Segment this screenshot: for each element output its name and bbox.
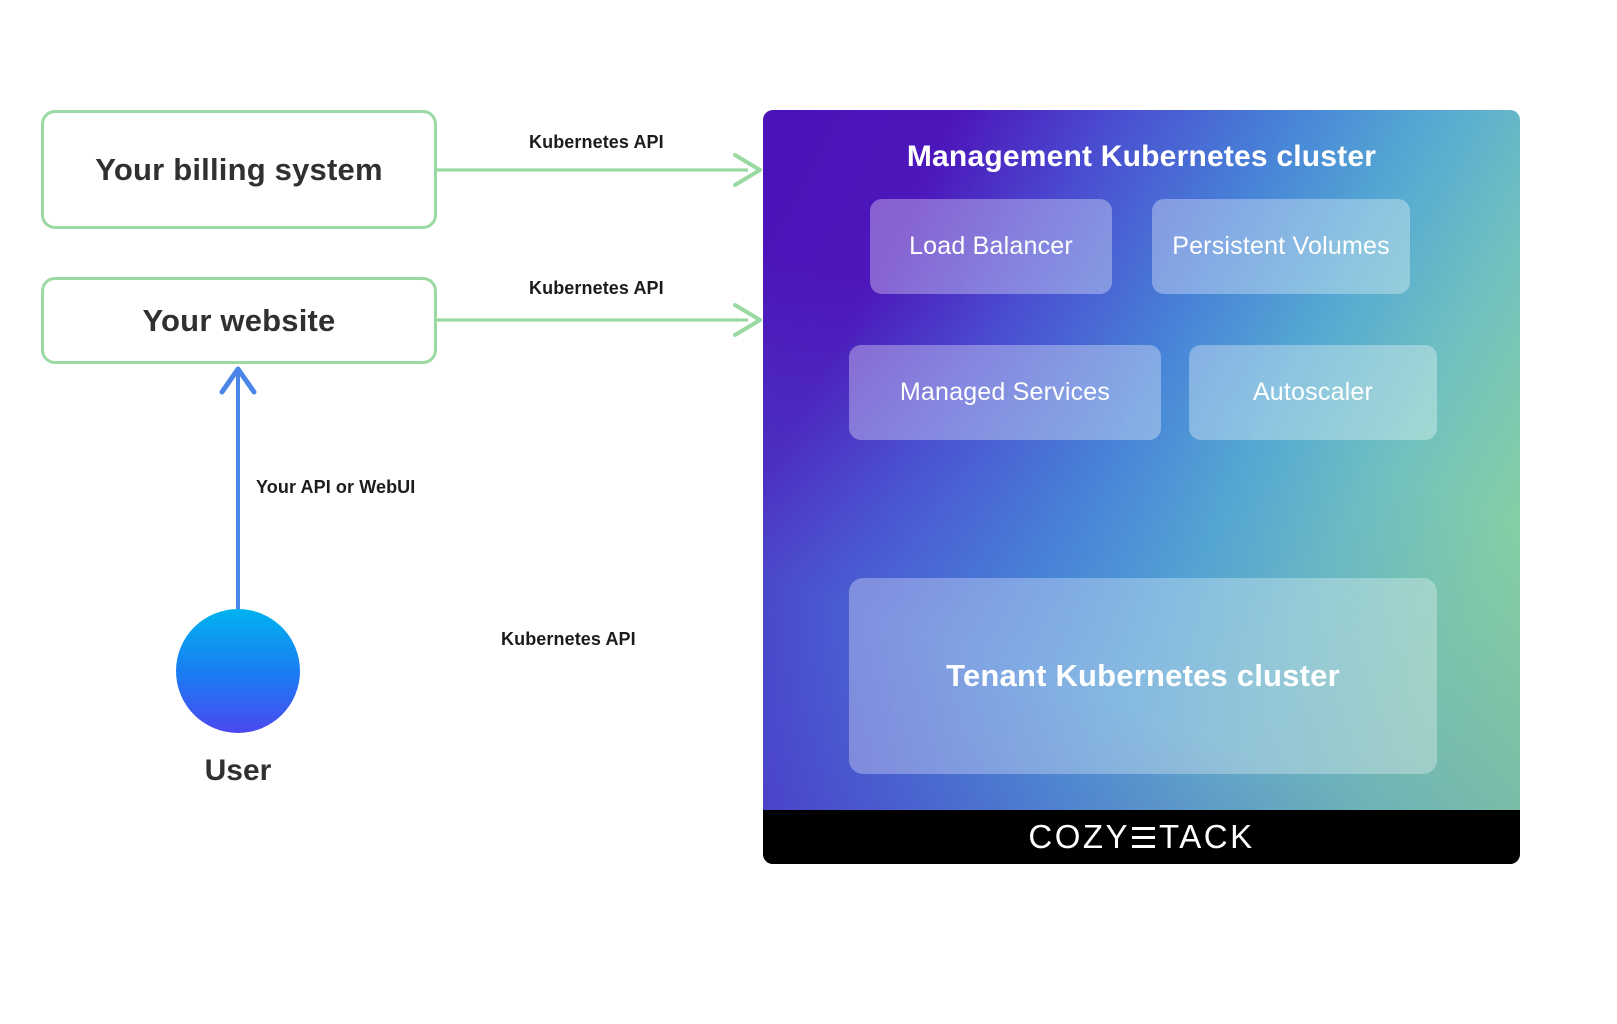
component-autoscaler[interactable]: Autoscaler: [1189, 345, 1437, 440]
edge-label-kubernetes-api-billing: Kubernetes API: [529, 132, 664, 153]
component-load-balancer[interactable]: Load Balancer: [870, 199, 1112, 294]
management-kubernetes-cluster[interactable]: Management Kubernetes cluster Load Balan…: [763, 110, 1520, 864]
cozystack-logo: COZY TACK: [1028, 818, 1254, 856]
edge-label-kubernetes-api-website: Kubernetes API: [529, 278, 664, 299]
component-label: Persistent Volumes: [1172, 232, 1390, 261]
component-label: Managed Services: [900, 378, 1110, 407]
component-persistent-volumes[interactable]: Persistent Volumes: [1152, 199, 1410, 294]
node-your-billing-system[interactable]: Your billing system: [41, 110, 437, 229]
component-managed-services[interactable]: Managed Services: [849, 345, 1161, 440]
user-avatar-circle: [176, 609, 300, 733]
tenant-kubernetes-cluster[interactable]: Tenant Kubernetes cluster: [849, 578, 1437, 774]
edge-user-to-website: [222, 369, 254, 612]
logo-prefix: COZY: [1028, 818, 1130, 856]
three-bar-s-icon: [1132, 826, 1155, 848]
component-label: Load Balancer: [909, 232, 1073, 261]
edge-label-your-api-or-webui: Your API or WebUI: [256, 477, 415, 498]
edge-label-kubernetes-api-user: Kubernetes API: [501, 629, 636, 650]
cluster-title: Management Kubernetes cluster: [763, 140, 1520, 174]
cozystack-footer: COZY TACK: [763, 810, 1520, 864]
edge-website-to-cluster: [437, 305, 760, 335]
node-your-website[interactable]: Your website: [41, 277, 437, 364]
node-label: Your website: [142, 303, 335, 339]
edge-billing-to-cluster: [437, 155, 760, 185]
node-label: Your billing system: [95, 152, 382, 188]
logo-suffix: TACK: [1159, 818, 1255, 856]
user-label: User: [140, 754, 336, 788]
tenant-cluster-label: Tenant Kubernetes cluster: [946, 658, 1340, 694]
component-label: Autoscaler: [1253, 378, 1373, 407]
node-user[interactable]: [176, 609, 300, 733]
